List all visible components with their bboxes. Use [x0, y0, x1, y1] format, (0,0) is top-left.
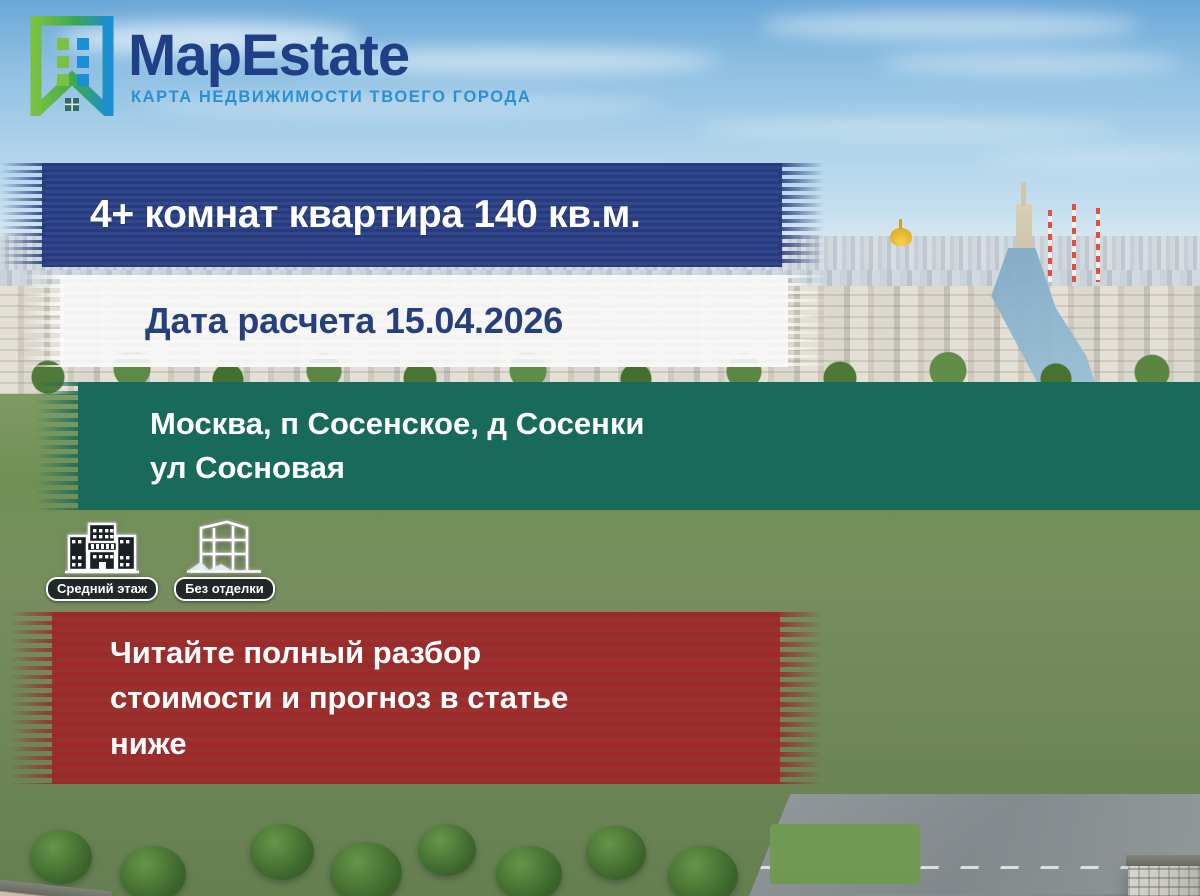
- tree: [330, 842, 402, 896]
- building-bookmark-icon: [30, 16, 114, 116]
- apartment-building-icon: [65, 518, 139, 574]
- golden-dome: [890, 228, 912, 246]
- antenna-mast: [1096, 208, 1100, 282]
- calculation-date-banner: Дата расчета 15.04.2026: [60, 275, 788, 367]
- retail-building: [1128, 864, 1200, 896]
- tree: [120, 846, 186, 896]
- address-line-1: Москва, п Сосенское, д Сосенки: [150, 402, 644, 446]
- address-line-2: ул Сосновая: [150, 446, 644, 490]
- scaffolding-unfinished-icon: [187, 518, 261, 574]
- brand-tagline: КАРТА НЕДВИЖИМОСТИ ТВОЕГО ГОРОДА: [131, 88, 531, 106]
- cloud: [700, 120, 1120, 138]
- antenna-mast: [1048, 210, 1052, 282]
- feature-badges: Средний этаж: [46, 518, 275, 601]
- tree: [586, 826, 646, 880]
- cta-line-1: Читайте полный разбор: [110, 630, 568, 675]
- cloud: [880, 52, 1180, 74]
- cta-line-2: стоимости и прогноз в статье: [110, 675, 568, 720]
- feature-no-finishing[interactable]: Без отделки: [174, 518, 275, 601]
- calculation-date-text: Дата расчета 15.04.2026: [145, 300, 563, 342]
- feature-label: Средний этаж: [46, 577, 158, 601]
- brand-title: MapEstate: [128, 26, 531, 85]
- feature-middle-floor[interactable]: Средний этаж: [46, 518, 158, 601]
- address-text: Москва, п Сосенское, д Сосенки ул Соснов…: [150, 402, 644, 490]
- cloud: [760, 12, 1140, 40]
- tree: [30, 830, 92, 884]
- promo-poster: MapEstate КАРТА НЕДВИЖИМОСТИ ТВОЕГО ГОРО…: [0, 0, 1200, 896]
- brand-logo[interactable]: MapEstate КАРТА НЕДВИЖИМОСТИ ТВОЕГО ГОРО…: [30, 16, 531, 116]
- headline-text: 4+ комнат квартира 140 кв.м.: [90, 193, 641, 237]
- high-rise-building: [0, 888, 110, 896]
- tree: [250, 824, 314, 880]
- tree: [496, 846, 562, 896]
- antenna-mast: [1072, 204, 1076, 282]
- tree: [418, 824, 476, 876]
- lawn: [770, 824, 920, 884]
- feature-label: Без отделки: [174, 577, 275, 601]
- cta-text: Читайте полный разбор стоимости и прогно…: [110, 630, 568, 766]
- headline-banner: 4+ комнат квартира 140 кв.м.: [42, 163, 782, 267]
- tree: [668, 846, 738, 896]
- address-banner: Москва, п Сосенское, д Сосенки ул Соснов…: [78, 382, 1200, 510]
- cta-line-3: ниже: [110, 721, 568, 766]
- cta-banner: Читайте полный разбор стоимости и прогно…: [52, 612, 780, 784]
